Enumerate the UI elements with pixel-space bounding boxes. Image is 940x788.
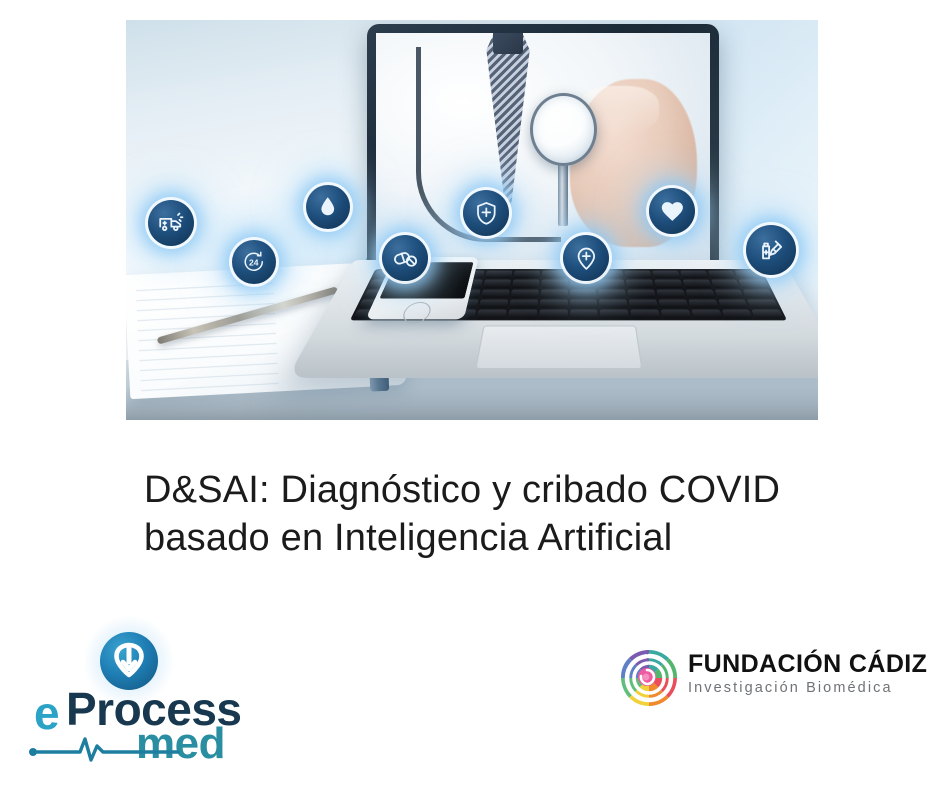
shield-cross-icon xyxy=(463,190,509,236)
laptop-base xyxy=(287,260,818,379)
rainbow-spiral-icon xyxy=(618,647,680,709)
logo-eprocessmed: e Process med xyxy=(28,630,258,765)
eprocessmed-wordmark: e Process med xyxy=(28,682,258,762)
location-pin-medical-icon xyxy=(563,235,609,281)
fundacion-subtitle: Investigación Biomédica xyxy=(688,679,920,698)
ecg-line-icon xyxy=(28,730,188,764)
clock-24h-icon: 24 xyxy=(232,240,276,284)
logo-fundacion-cadiz: FUNDACIÓN CÁDIZ Investigación Biomédica xyxy=(618,645,920,717)
laptop xyxy=(354,24,783,392)
fundacion-text-block: FUNDACIÓN CÁDIZ Investigación Biomédica xyxy=(688,651,920,698)
fundacion-title: FUNDACIÓN CÁDIZ xyxy=(688,651,920,677)
heart-icon xyxy=(649,188,695,234)
ambulance-icon xyxy=(148,200,194,246)
page-title: D&SAI: Diagnóstico y cribado COVID basad… xyxy=(144,467,804,563)
pills-icon xyxy=(382,235,428,281)
laptop-lid xyxy=(367,24,719,274)
laptop-trackpad xyxy=(475,325,643,368)
water-drop-icon xyxy=(306,185,350,229)
medicine-syringe-icon xyxy=(746,225,796,275)
hero-image: 24 xyxy=(126,20,818,420)
stethoscope-chestpiece xyxy=(530,93,597,166)
svg-text:24: 24 xyxy=(249,258,259,268)
